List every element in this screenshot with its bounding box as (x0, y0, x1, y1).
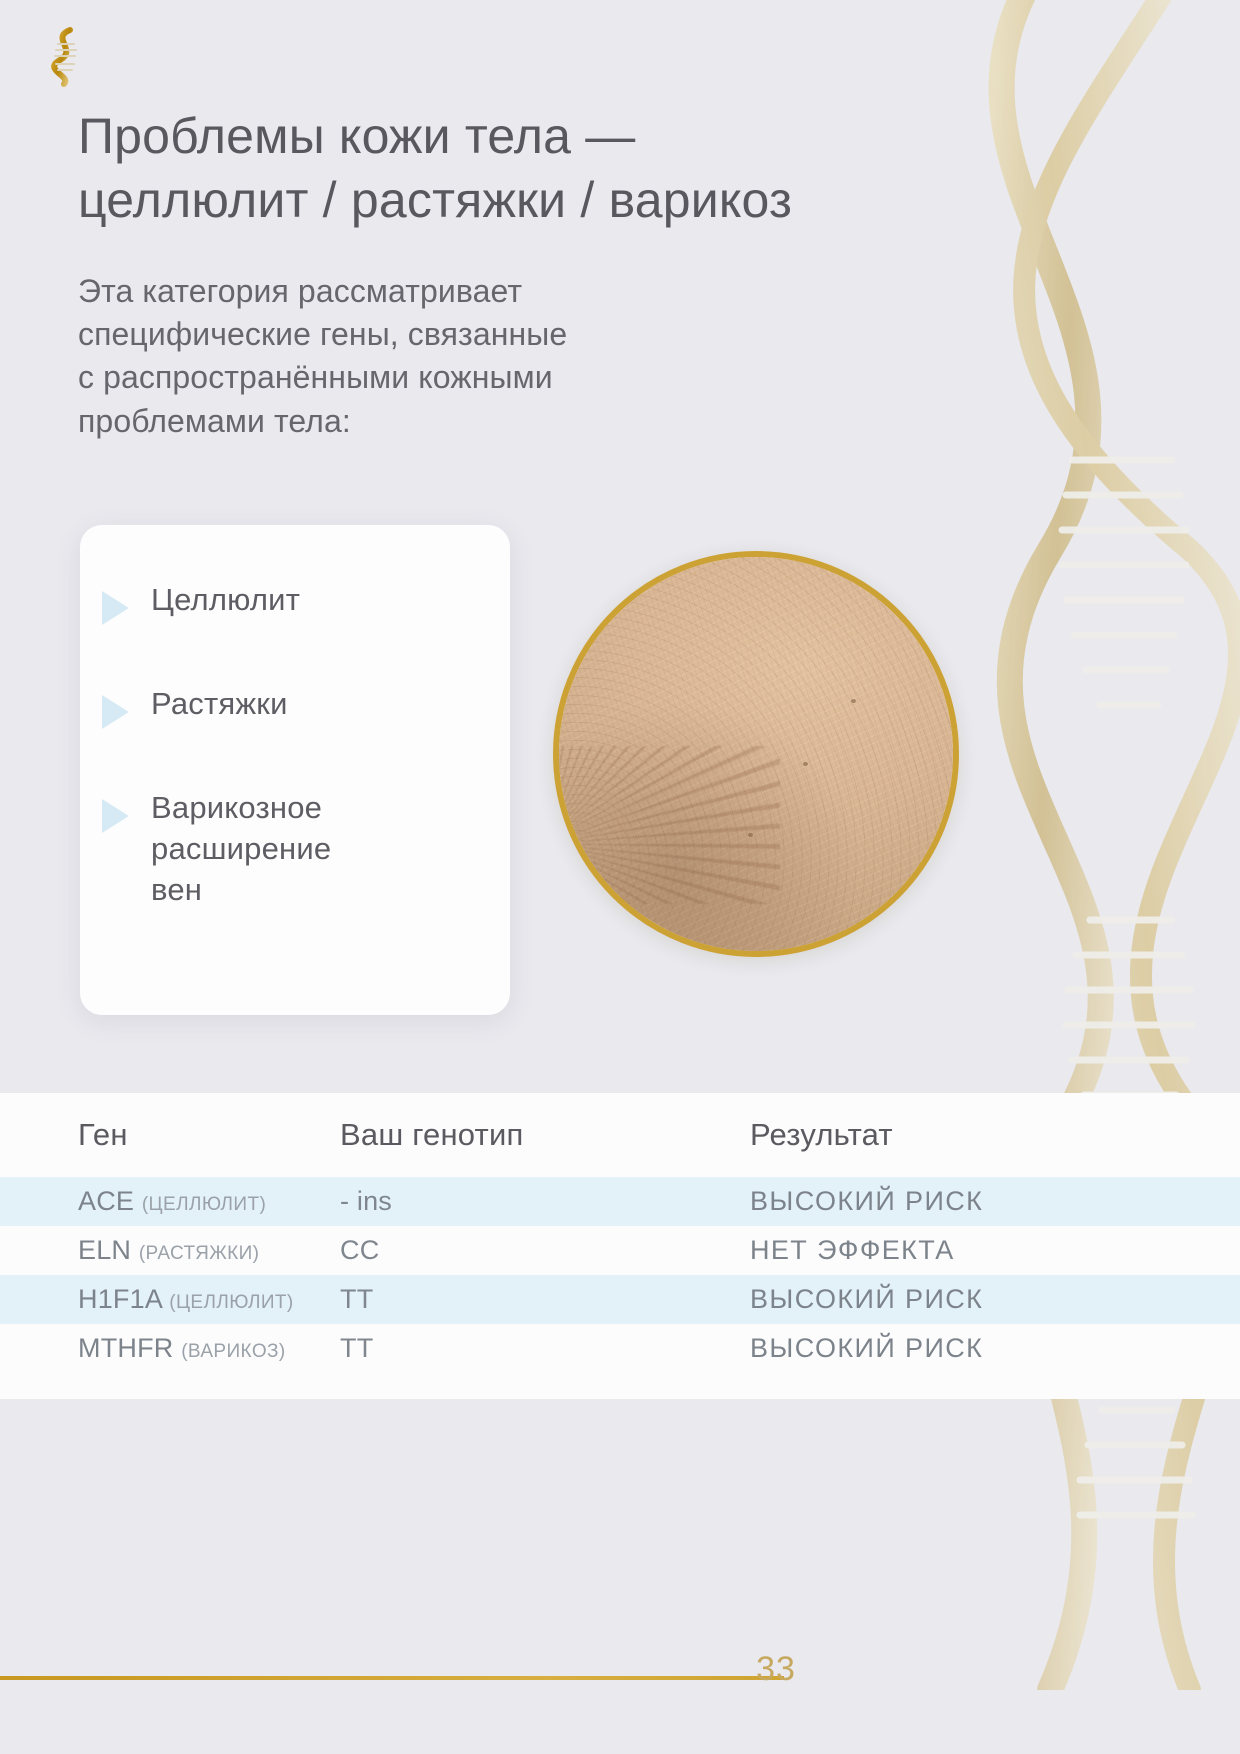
table-row: ACE (ЦЕЛЛЮЛИТ) - ins ВЫСОКИЙ РИСК (0, 1177, 1240, 1226)
column-header-genotype: Ваш генотип (330, 1093, 730, 1177)
column-header-gene: Ген (0, 1093, 330, 1177)
cell-gene: MTHFR (ВАРИКОЗ) (0, 1324, 330, 1373)
slide-page: Проблемы кожи тела — целлюлит / растяжки… (0, 0, 1240, 1754)
cell-result: ВЫСОКИЙ РИСК (730, 1324, 1240, 1373)
list-item: Растяжки (102, 683, 492, 729)
gene-note: (ЦЕЛЛЮЛИТ) (142, 1194, 266, 1215)
dna-helix-logo (34, 22, 94, 90)
cell-genotype: - ins (330, 1177, 730, 1226)
cell-gene: H1F1A (ЦЕЛЛЮЛИТ) (0, 1275, 330, 1324)
list-item-label: Целлюлит (151, 579, 300, 620)
table-row: MTHFR (ВАРИКОЗ) TT ВЫСОКИЙ РИСК (0, 1324, 1240, 1373)
gene-name: ACE (78, 1186, 134, 1216)
cell-genotype: TT (330, 1275, 730, 1324)
list-item-label: Варикозное расширение вен (151, 787, 331, 911)
gene-note: (РАСТЯЖКИ) (139, 1243, 260, 1264)
triangle-bullet-icon (102, 695, 129, 729)
cell-result: НЕТ ЭФФЕКТА (730, 1226, 1240, 1275)
table-row: ELN (РАСТЯЖКИ) CC НЕТ ЭФФЕКТА (0, 1226, 1240, 1275)
page-number: 33 (736, 1650, 816, 1689)
skin-shading (559, 557, 953, 951)
skin-mark (748, 833, 753, 837)
gene-name: ELN (78, 1235, 131, 1265)
conditions-card: Целлюлит Растяжки Варикозное расширение … (80, 525, 510, 1015)
triangle-bullet-icon (102, 799, 129, 833)
cell-genotype: TT (330, 1324, 730, 1373)
cell-genotype: CC (330, 1226, 730, 1275)
cell-gene: ELN (РАСТЯЖКИ) (0, 1226, 330, 1275)
gene-name: H1F1A (78, 1284, 162, 1314)
conditions-list: Целлюлит Растяжки Варикозное расширение … (102, 579, 492, 911)
list-item: Целлюлит (102, 579, 492, 625)
column-header-result: Результат (730, 1093, 1240, 1177)
table-row: H1F1A (ЦЕЛЛЮЛИТ) TT ВЫСОКИЙ РИСК (0, 1275, 1240, 1324)
skin-mark (851, 699, 856, 703)
table-header-row: Ген Ваш генотип Результат (0, 1093, 1240, 1177)
page-title: Проблемы кожи тела — целлюлит / растяжки… (78, 104, 958, 232)
cell-result: ВЫСОКИЙ РИСК (730, 1177, 1240, 1226)
list-item: Варикозное расширение вен (102, 787, 492, 911)
gene-name: MTHFR (78, 1333, 173, 1363)
table-bottom-spacer (0, 1373, 1240, 1399)
cell-gene: ACE (ЦЕЛЛЮЛИТ) (0, 1177, 330, 1226)
gene-note: (ВАРИКОЗ) (181, 1341, 285, 1362)
cell-result: ВЫСОКИЙ РИСК (730, 1275, 1240, 1324)
genotype-results-table: Ген Ваш генотип Результат ACE (ЦЕЛЛЮЛИТ)… (0, 1093, 1240, 1399)
footer-rule (0, 1676, 784, 1680)
triangle-bullet-icon (102, 591, 129, 625)
skin-photo (553, 551, 959, 957)
list-item-label: Растяжки (151, 683, 288, 724)
gene-note: (ЦЕЛЛЮЛИТ) (169, 1292, 293, 1313)
intro-paragraph: Эта категория рассматривает специфически… (78, 270, 838, 443)
